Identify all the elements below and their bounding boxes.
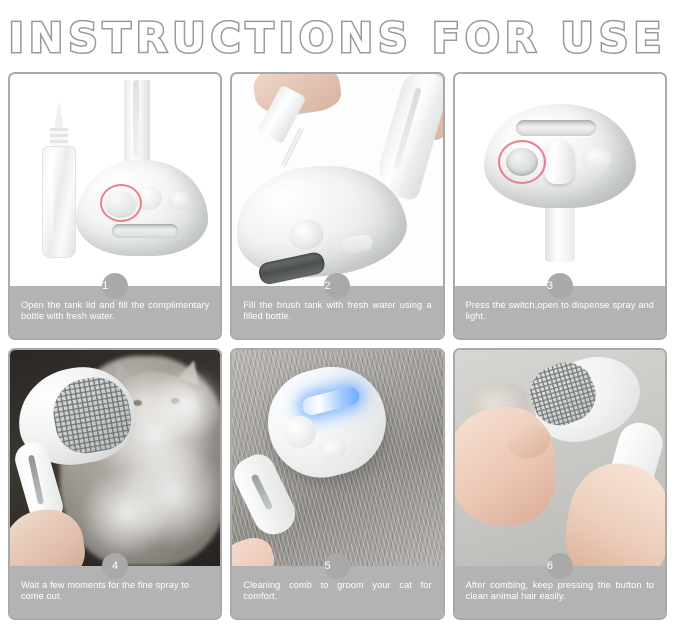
step-4-photo — [10, 350, 220, 566]
step-3-caption: 3 Press the switch,open to dispense spra… — [455, 286, 665, 338]
instruction-steps-grid: 1 Open the tank lid and fill the complim… — [0, 72, 675, 620]
step-panel-4: 4 Wait a few moments for the fine spray … — [8, 348, 222, 620]
step-panel-2: 2 Fill the brush tank with fresh water u… — [230, 72, 444, 340]
bottle-nozzle-tip — [54, 100, 64, 130]
step-number-badge: 3 — [547, 273, 573, 299]
step-3-caption-text: Press the switch,open to dispense spray … — [466, 300, 654, 321]
step-2-photo — [232, 74, 442, 286]
tank-fill-port — [288, 218, 325, 251]
brush-head-body — [257, 355, 398, 488]
step-panel-3: 3 Press the switch,open to dispense spra… — [453, 72, 667, 340]
side-button — [582, 148, 612, 170]
brush-head-body — [76, 160, 208, 256]
step-number-badge: 5 — [324, 553, 350, 579]
grooming-brush — [18, 368, 138, 480]
step-3-photo — [455, 74, 665, 286]
step-panel-5: 5 Cleaning comb to groom your cat for co… — [230, 348, 444, 620]
step-6-caption: 6 After combing, keep pressing the butto… — [455, 566, 665, 618]
step-4-caption: 4 Wait a few moments for the fine spray … — [10, 566, 220, 618]
step-1-caption: 1 Open the tank lid and fill the complim… — [10, 286, 220, 338]
spray-knob — [544, 140, 574, 184]
step-panel-1: 1 Open the tank lid and fill the complim… — [8, 72, 222, 340]
grooming-brush — [258, 368, 392, 528]
step-number-badge: 4 — [102, 553, 128, 579]
step-2-caption-text: Fill the brush tank with fresh water usi… — [243, 300, 431, 321]
step-number-badge: 6 — [547, 553, 573, 579]
grooming-brush-illustration — [76, 80, 208, 264]
step-6-photo — [455, 350, 665, 566]
refill-bottle-illustration — [42, 108, 76, 258]
step-panel-6: 6 After combing, keep pressing the butto… — [453, 348, 667, 620]
side-button — [168, 192, 190, 210]
step-4-caption-text: Wait a few moments for the fine spray to… — [21, 580, 189, 601]
step-5-caption-text: Cleaning comb to groom your cat for comf… — [243, 580, 431, 601]
bottle-body — [42, 146, 76, 258]
step-2-caption: 2 Fill the brush tank with fresh water u… — [232, 286, 442, 338]
water-level-window — [112, 224, 178, 238]
step-1-photo — [10, 74, 220, 286]
step-6-caption-text: After combing, keep pressing the button … — [466, 580, 654, 601]
step-5-caption: 5 Cleaning comb to groom your cat for co… — [232, 566, 442, 618]
step-number-badge: 2 — [324, 273, 350, 299]
annotation-circle-icon — [100, 184, 142, 222]
page-title: INSTRUCTIONS FOR USE — [0, 0, 675, 72]
step-5-photo — [232, 350, 442, 566]
brush-head-closeup — [484, 104, 636, 208]
water-level-window — [516, 120, 596, 136]
step-1-caption-text: Open the tank lid and fill the complimen… — [21, 300, 209, 321]
step-number-badge: 1 — [102, 273, 128, 299]
side-button — [342, 233, 375, 255]
annotation-circle-icon — [498, 140, 546, 184]
